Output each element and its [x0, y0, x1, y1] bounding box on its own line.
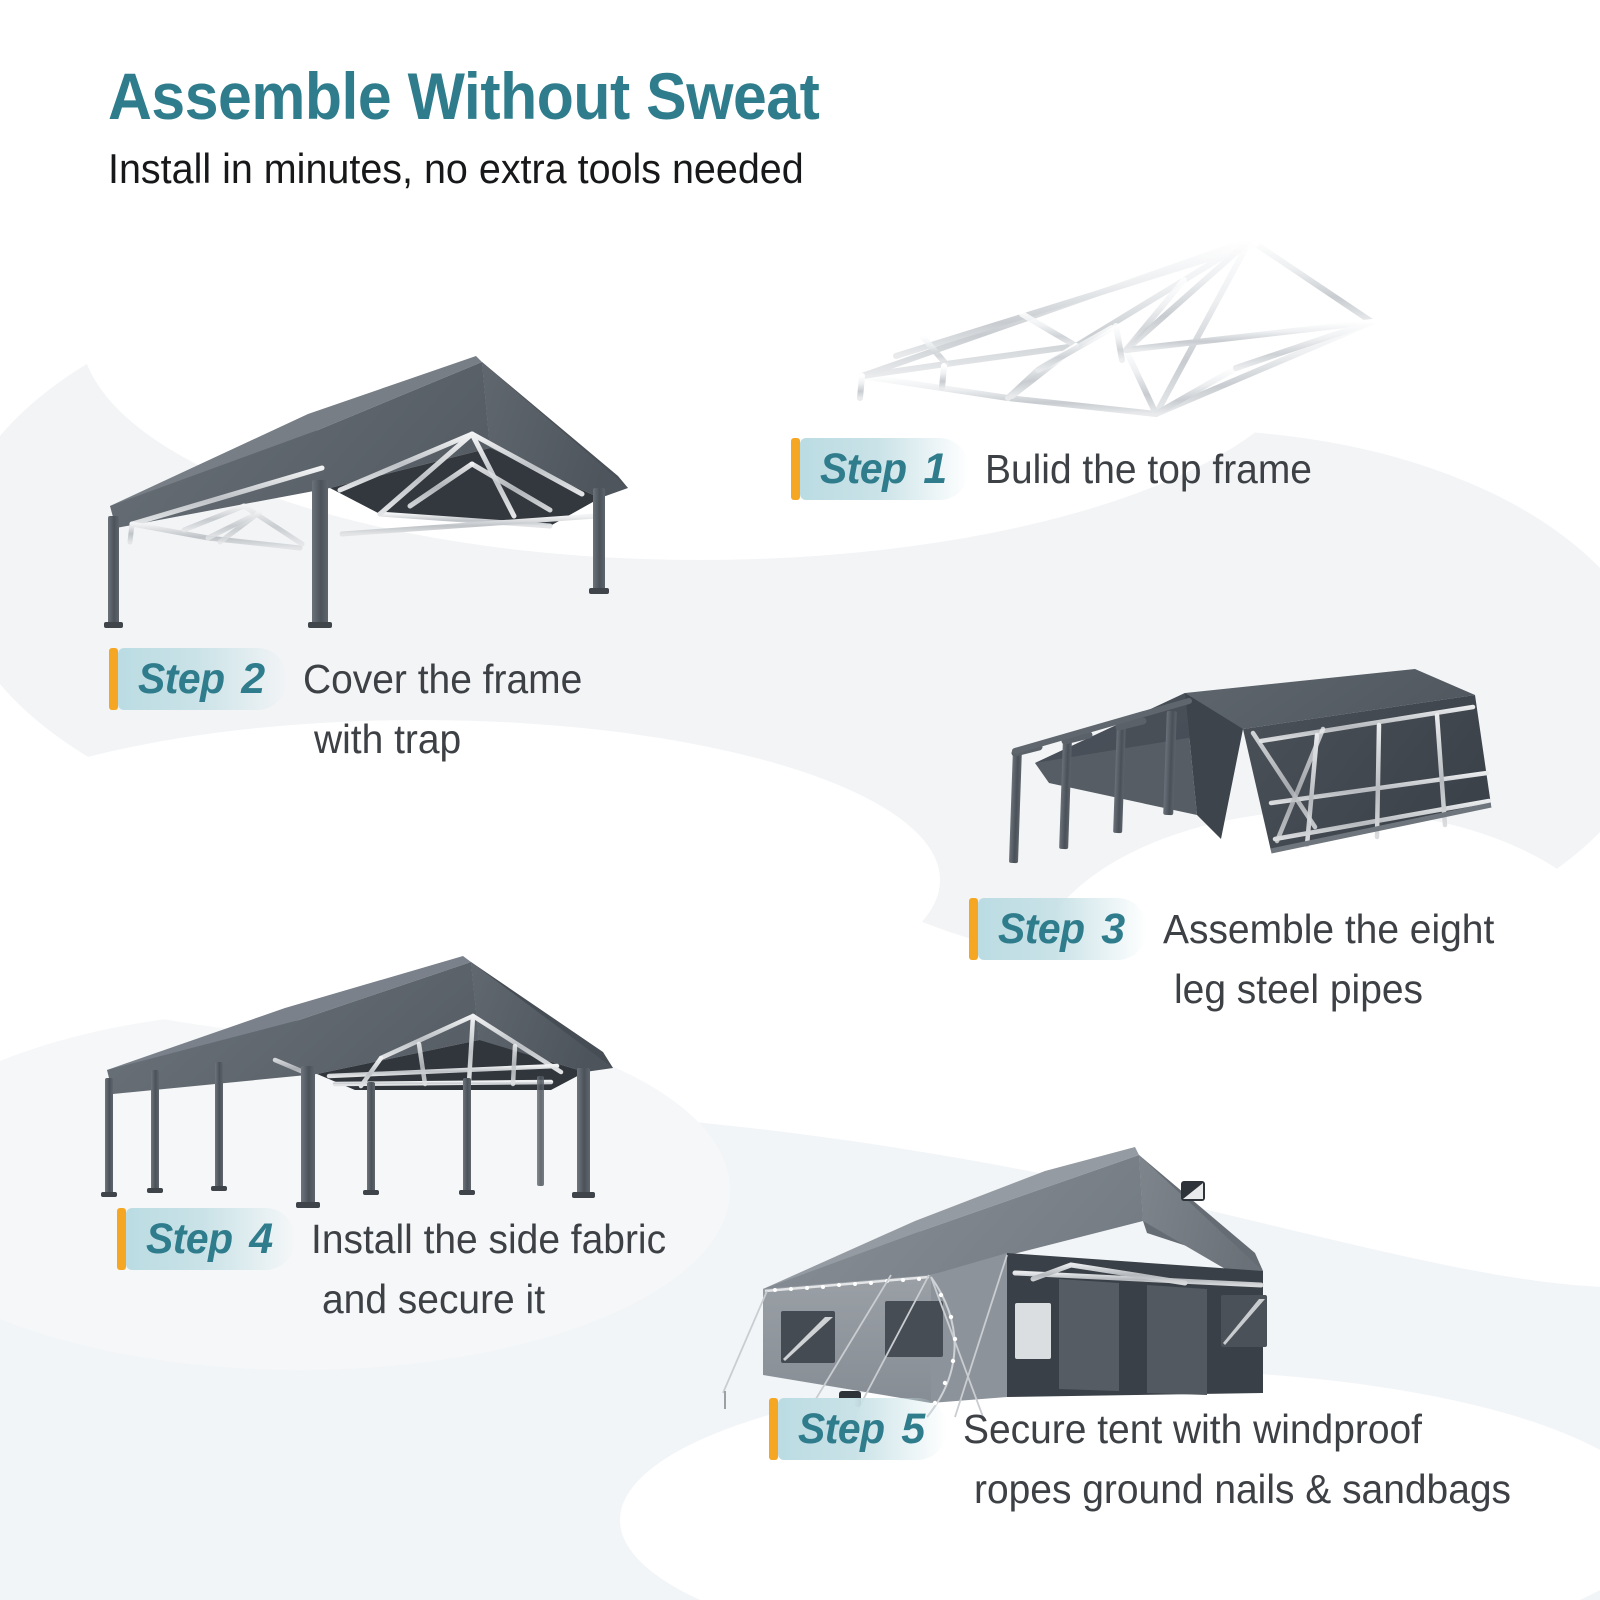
step-number-2: 2: [241, 655, 265, 704]
step-label-4: Step: [146, 1215, 233, 1264]
step-badge-3: Step 3: [978, 898, 1147, 960]
page-subtitle: Install in minutes, no extra tools neede…: [108, 145, 835, 193]
illustration-roof-frame-bare: [826, 218, 1406, 418]
step-description-5-line2: ropes ground nails & sandbags: [974, 1464, 1511, 1514]
step-description-2-line1: Cover the frame: [303, 654, 582, 704]
step-description-5-line1: Secure tent with windproof: [963, 1404, 1422, 1454]
illustration-canopy-covered-frame: [80, 338, 640, 628]
step-label-2: Step: [138, 655, 225, 704]
infographic-page: Assemble Without Sweat Install in minute…: [0, 0, 1600, 1600]
step-badge-1: Step 1: [800, 438, 969, 500]
step-description-3-line1: Assemble the eight: [1163, 904, 1494, 954]
step-caption-4: Step 4 Install the side fabric and secur…: [126, 1208, 685, 1324]
step-label-1: Step: [820, 445, 907, 494]
step-number-4: 4: [249, 1215, 273, 1264]
step-badge-2: Step 2: [118, 648, 287, 710]
step-number-1: 1: [923, 445, 947, 494]
step-description-3-line2: leg steel pipes: [1174, 964, 1495, 1014]
illustration-carport-standing-eight-legs: [85, 950, 630, 1215]
page-title: Assemble Without Sweat: [108, 62, 819, 131]
step-caption-3: Step 3 Assemble the eight leg steel pipe…: [978, 898, 1512, 1014]
step-caption-5: Step 5 Secure tent with windproof ropes …: [778, 1398, 1539, 1514]
step-description-2-line2: with trap: [314, 714, 583, 764]
step-caption-2: Step 2 Cover the frame with trap: [118, 648, 597, 764]
step-label-3: Step: [998, 905, 1085, 954]
step-description-4-line2: and secure it: [322, 1274, 667, 1324]
illustration-canopy-underside-legs: [975, 655, 1495, 885]
step-caption-1: Step 1 Bulid the top frame: [800, 438, 1329, 500]
step-number-3: 3: [1101, 905, 1125, 954]
step-label-5: Step: [798, 1405, 885, 1454]
step-description-1-line1: Bulid the top frame: [985, 444, 1312, 494]
step-badge-5: Step 5: [778, 1398, 947, 1460]
step-description-4-line1: Install the side fabric: [311, 1214, 666, 1264]
step-number-5: 5: [901, 1405, 925, 1454]
header: Assemble Without Sweat Install in minute…: [108, 62, 881, 194]
illustration-enclosed-tent-with-ropes: [715, 1125, 1295, 1425]
step-badge-4: Step 4: [126, 1208, 295, 1270]
